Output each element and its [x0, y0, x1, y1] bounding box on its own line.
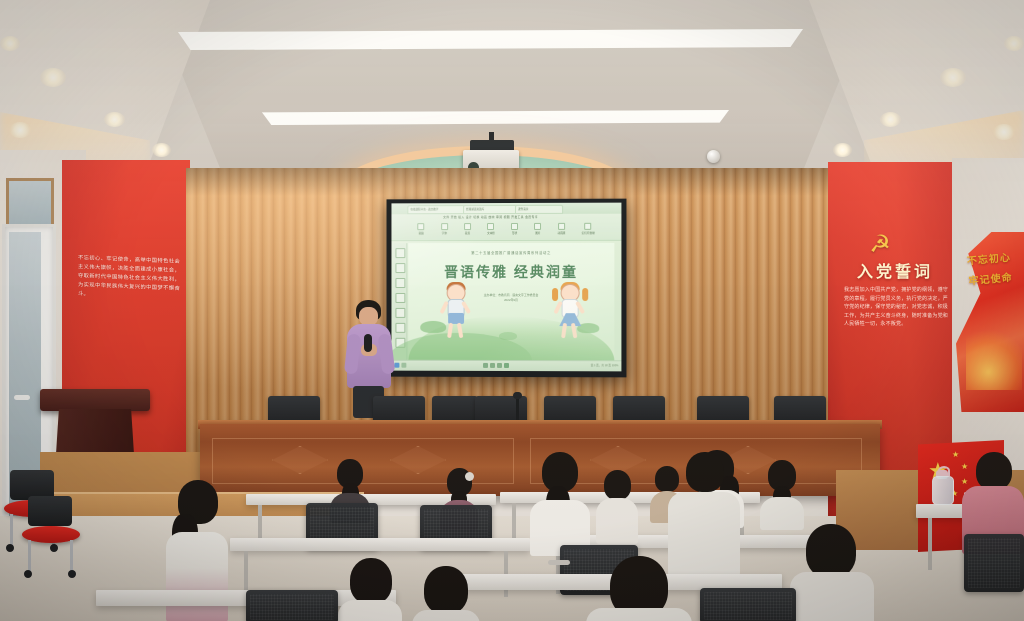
hair-tie [465, 472, 474, 481]
red-chair-caster [24, 570, 32, 578]
left-wall-slogan-text: 不忘初心、牢记使命，高举中国特色社会主义伟大旗帜，决胜全面建成小康社会，夺取新时… [78, 254, 180, 303]
downlight [40, 68, 66, 87]
mesh-chair[interactable] [964, 534, 1024, 592]
red-chair-leg [28, 540, 31, 572]
hammer-and-sickle-icon: ☭ [866, 232, 894, 258]
textbox-icon [488, 223, 495, 230]
slide-subtitle: 主办单位：市教育局 · 语言文字工作委员会 2022年9月 [462, 293, 561, 303]
downlight [9, 122, 31, 138]
slide-thumbnail[interactable] [395, 293, 405, 303]
ribbon-tool[interactable]: 动画刷 [558, 223, 566, 236]
red-chair-caster [68, 570, 76, 578]
party-oath-body: 我志愿加入中国共产党，拥护党的纲领，遵守党的章程，履行党员义务，执行党的决定，严… [844, 286, 948, 329]
desk-leg [928, 518, 932, 570]
slide-thumbnail[interactable] [395, 278, 405, 288]
ribbon-tool[interactable]: 粘贴 [418, 223, 425, 236]
slide-subtitle-line-2: 2022年9月 [462, 298, 561, 303]
editor-ribbon: 文件 开始 插入 设计 切换 动画 放映 审阅 视图 开发工具 会员专享 粘贴 … [391, 214, 621, 241]
lectern-top [40, 389, 150, 411]
red-chair-caster [6, 544, 14, 552]
ribbon-tool[interactable]: 图片 [534, 223, 541, 236]
downlight [940, 68, 966, 87]
mesh-chair[interactable] [700, 588, 796, 621]
torso [596, 498, 638, 544]
normal-view-icon[interactable] [483, 363, 488, 368]
chair-armrest [548, 560, 570, 565]
audience-member [586, 556, 692, 621]
downlight [152, 143, 171, 157]
linear-light-rear [178, 29, 803, 50]
taskbar-icon[interactable] [401, 363, 406, 368]
browser-tab[interactable]: 在线课程平台 - 语文教学 [407, 205, 465, 214]
slide-cartoon-boy [441, 284, 471, 342]
status-bar-left-icons [394, 363, 406, 368]
head [686, 452, 724, 492]
water-bottle [932, 470, 952, 506]
picture-icon [534, 223, 541, 230]
red-chair-leg [70, 540, 73, 572]
start-menu-icon[interactable] [394, 363, 399, 368]
slideshow-icon [585, 223, 592, 230]
downlight [833, 143, 852, 157]
handheld-microphone-icon [364, 334, 372, 352]
audience-member [596, 470, 638, 542]
girl-pigtail-left [552, 288, 558, 301]
editor-ribbon-tools: 粘贴 字体 段落 文本框 形状 图片 动画刷 幻灯片放映 [410, 223, 603, 236]
ribbon-tool[interactable]: 幻灯片放映 [582, 223, 595, 236]
red-chair-leg [10, 514, 13, 546]
student-desk [230, 538, 530, 551]
boy-leg-left [447, 323, 453, 338]
mesh-chair[interactable] [246, 590, 338, 621]
projection-screen[interactable]: 在线课程平台 - 语文教学 经典诵读资源库 课件演示 文件 开始 插入 设计 切… [391, 203, 621, 372]
desk-leg [512, 503, 516, 541]
slide-thumbnail[interactable] [395, 248, 405, 258]
red-chair-caster [50, 544, 58, 552]
sorter-view-icon[interactable] [490, 363, 495, 368]
torso [790, 572, 874, 621]
audience-member [530, 452, 590, 552]
head [976, 452, 1012, 490]
font-icon [441, 223, 448, 230]
audience-member [790, 524, 874, 621]
ribbon-slogan: 不忘初心 牢记使命 [966, 248, 1024, 342]
linear-light-front [262, 110, 729, 125]
dome-camera-icon [707, 150, 720, 163]
audience-member [412, 566, 480, 621]
torso [586, 608, 692, 621]
editor-status-bar: 第 1 页，共 18 页 100% [391, 360, 621, 372]
torso [338, 600, 402, 621]
slide-thumbnail[interactable] [395, 263, 405, 273]
slideshow-view-icon[interactable] [504, 363, 509, 368]
boy-leg-right [457, 323, 464, 338]
status-bar-page-indicator: 第 1 页，共 18 页 100% [591, 363, 619, 367]
flag-star-small: ★ [952, 451, 959, 459]
paragraph-icon [464, 223, 471, 230]
browser-tab[interactable]: 经典诵读资源库 [463, 205, 517, 214]
paste-icon [418, 223, 425, 230]
audience-member [668, 452, 740, 572]
head [806, 524, 856, 578]
ribbon-slogan-line-2: 牢记使命 [968, 268, 1024, 293]
downlight [880, 112, 901, 127]
lecture-hall-photo: 不忘初心、牢记使命，高举中国特色社会主义伟大旗帜，决胜全面建成小康社会，夺取新时… [0, 0, 1024, 621]
wood-slat-wall-top-shadow [186, 168, 836, 196]
bottle-body [932, 476, 954, 505]
slide-thumbnail[interactable] [395, 308, 405, 318]
slide-thumbnail[interactable] [395, 323, 405, 333]
head [350, 558, 392, 604]
reading-view-icon[interactable] [497, 363, 502, 368]
torso [412, 610, 480, 621]
audience-member [760, 460, 804, 526]
status-bar-view-icons [483, 363, 509, 368]
slide-canvas[interactable]: 第二十五届全国推广普通话宣传周系列活动之 晋语传雅 经典润童 主办单位：市教育局… [408, 243, 614, 361]
head [424, 566, 468, 614]
browser-tab[interactable]: 课件演示 [515, 205, 563, 214]
slide-kicker-text: 第二十五届全国推广普通话宣传周系列活动之 [433, 250, 590, 255]
window-transom [6, 178, 54, 228]
girl-pigtail-right [582, 288, 588, 301]
downlight [0, 36, 20, 51]
animation-brush-icon [558, 223, 565, 230]
ribbon-tool[interactable]: 形状 [511, 223, 518, 236]
party-oath-title: 入党誓词 [836, 258, 954, 282]
downlight [1004, 36, 1024, 51]
ribbon-tool[interactable]: 文本框 [487, 223, 495, 236]
ribbon-tool[interactable]: 段落 [464, 223, 471, 236]
editor-menu-bar[interactable]: 文件 开始 插入 设计 切换 动画 放映 审阅 视图 开发工具 会员专享 [443, 215, 538, 219]
red-chair-back [28, 496, 72, 526]
shape-icon [511, 223, 518, 230]
ribbon-tool[interactable]: 字体 [441, 223, 448, 236]
desk-microphone-icon [513, 392, 522, 399]
slide-title: 晋语传雅 经典润童 [425, 262, 598, 282]
slide-cartoon-girl [555, 284, 585, 342]
downlight [993, 124, 1015, 140]
window-handle[interactable] [14, 395, 30, 400]
slide-bush [499, 332, 517, 340]
torso [166, 532, 228, 621]
head [604, 470, 631, 500]
downlight [104, 112, 125, 127]
audience-member [338, 558, 402, 621]
girl-leg-left [561, 323, 567, 338]
